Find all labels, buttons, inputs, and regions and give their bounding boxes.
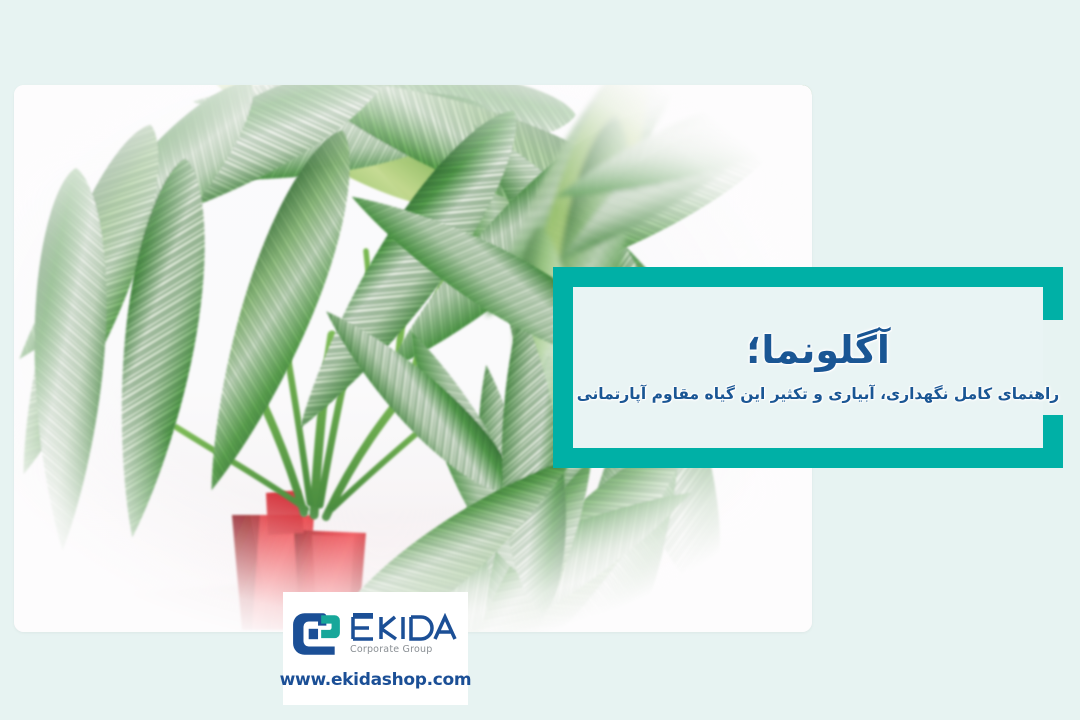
ekida-brand-text: [350, 613, 460, 643]
frame-border-left: [553, 267, 573, 468]
brand-wordmark: Corporate Group: [350, 613, 460, 655]
banner-canvas: آگلونما؛ راهنمای کامل نگهداری، آبیاری و …: [0, 0, 1080, 720]
logo-lockup: Corporate Group: [291, 610, 460, 658]
frame-border-bottom: [553, 448, 1063, 468]
title-frame: آگلونما؛ راهنمای کامل نگهداری، آبیاری و …: [553, 267, 1063, 468]
brand-logo-card[interactable]: Corporate Group www.ekidashop.com: [283, 592, 468, 705]
ekida-logo-mark: [291, 610, 343, 658]
page-subtitle: راهنمای کامل نگهداری، آبیاری و تکثیر این…: [577, 384, 1059, 406]
website-url[interactable]: www.ekidashop.com: [280, 670, 472, 690]
frame-border-top: [553, 267, 1063, 287]
page-title: آگلونما؛: [746, 330, 890, 372]
title-text-block: آگلونما؛ راهنمای کامل نگهداری، آبیاری و …: [573, 287, 1063, 448]
brand-tagline: Corporate Group: [350, 645, 432, 655]
